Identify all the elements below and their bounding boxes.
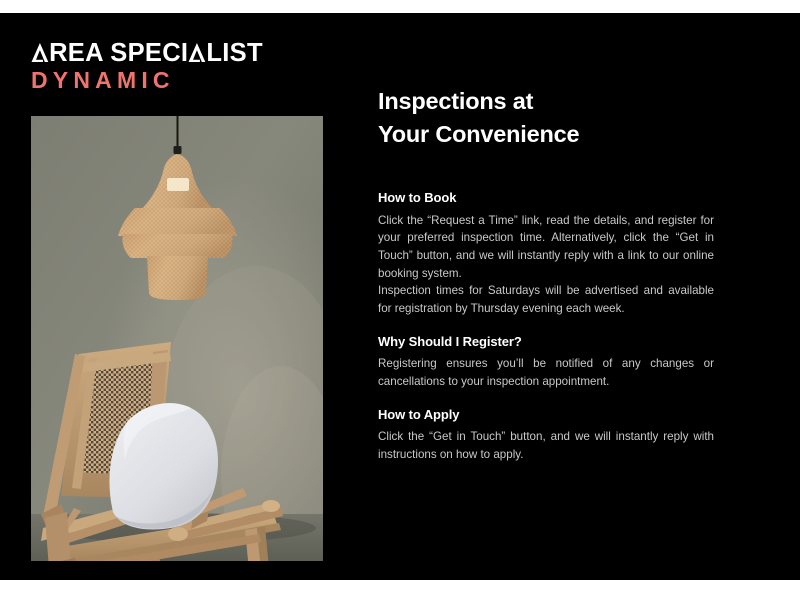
slide-canvas: REA SPECI LIST DYNAMIC xyxy=(0,13,800,580)
headline-line-1: Inspections at xyxy=(378,85,738,118)
section-why-should-i-register: Why Should I Register? Registering ensur… xyxy=(378,332,714,391)
section-paragraph: Inspection times for Saturdays will be a… xyxy=(378,282,714,317)
section-title: Why Should I Register? xyxy=(378,332,714,352)
brand-tagline: DYNAMIC xyxy=(31,68,301,93)
section-how-to-apply: How to Apply Click the “Get in Touch” bu… xyxy=(378,405,714,464)
left-column: REA SPECI LIST DYNAMIC xyxy=(0,13,355,580)
brand-name-part2: LIST xyxy=(206,39,262,67)
section-paragraph: Click the “Request a Time” link, read th… xyxy=(378,212,714,283)
brand-name-part1: REA SPECI xyxy=(49,39,188,67)
section-paragraph: Registering ensures you’ll be notified o… xyxy=(378,355,714,390)
page-title: Inspections at Your Convenience xyxy=(378,85,738,152)
section-title: How to Apply xyxy=(378,405,714,425)
interior-photo xyxy=(31,116,323,561)
section-body: Click the “Request a Time” link, read th… xyxy=(378,212,714,318)
brand-name: REA SPECI LIST xyxy=(31,40,301,67)
content-sections: How to Book Click the “Request a Time” l… xyxy=(378,188,714,464)
triangle-a-icon-2 xyxy=(188,43,206,62)
section-title: How to Book xyxy=(378,188,714,208)
triangle-a-icon xyxy=(31,43,49,62)
section-body: Registering ensures you’ll be notified o… xyxy=(378,355,714,390)
section-body: Click the “Get in Touch” button, and we … xyxy=(378,428,714,463)
brand-logo: REA SPECI LIST DYNAMIC xyxy=(31,40,301,93)
section-how-to-book: How to Book Click the “Request a Time” l… xyxy=(378,188,714,318)
right-column: Inspections at Your Convenience How to B… xyxy=(378,13,778,580)
headline-line-2: Your Convenience xyxy=(378,118,738,151)
section-paragraph: Click the “Get in Touch” button, and we … xyxy=(378,428,714,463)
